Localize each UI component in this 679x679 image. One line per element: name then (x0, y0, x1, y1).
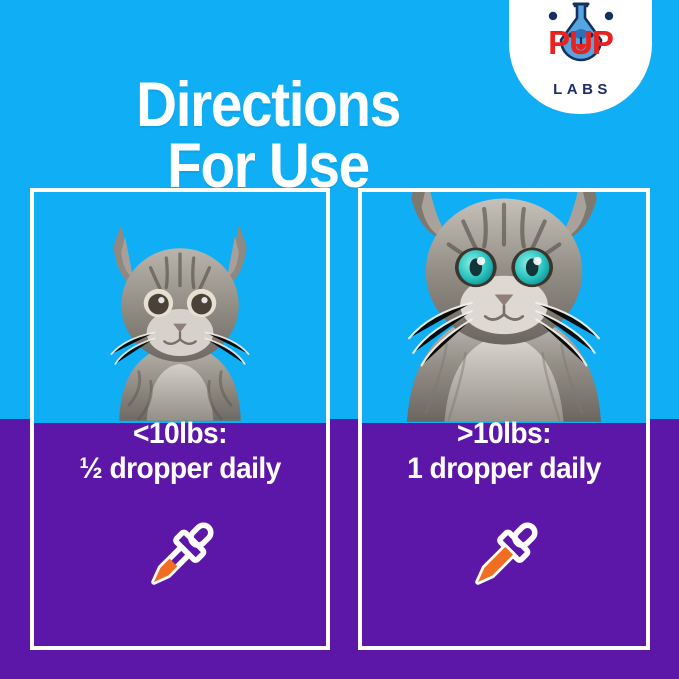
card-blue-area (34, 192, 326, 423)
dose-label: 1 dropper daily (371, 452, 638, 486)
directions-for-use-infographic: Directions For Use (0, 0, 679, 679)
weight-label: <10lbs: (43, 418, 317, 450)
weight-label: >10lbs: (371, 418, 638, 450)
dosage-card-under-10lbs: <10lbs: ½ dropper daily (30, 188, 330, 650)
dose-label: ½ dropper daily (43, 452, 317, 486)
dose-text-block: <10lbs: ½ dropper daily (34, 418, 326, 486)
dropper-half-full-icon (34, 510, 326, 602)
dropper-full-icon (362, 510, 646, 602)
brand-logo-badge: PUP LABS (509, 0, 652, 114)
dosage-card-over-10lbs: >10lbs: 1 dropper daily (358, 188, 650, 650)
brand-name-pup: PUP (509, 26, 652, 59)
header: Directions For Use (0, 0, 679, 180)
card-blue-area (362, 192, 646, 423)
brand-name-labs: LABS (549, 82, 612, 97)
dose-text-block: >10lbs: 1 dropper daily (362, 418, 646, 486)
page-title-line-1: Directions (136, 70, 400, 140)
